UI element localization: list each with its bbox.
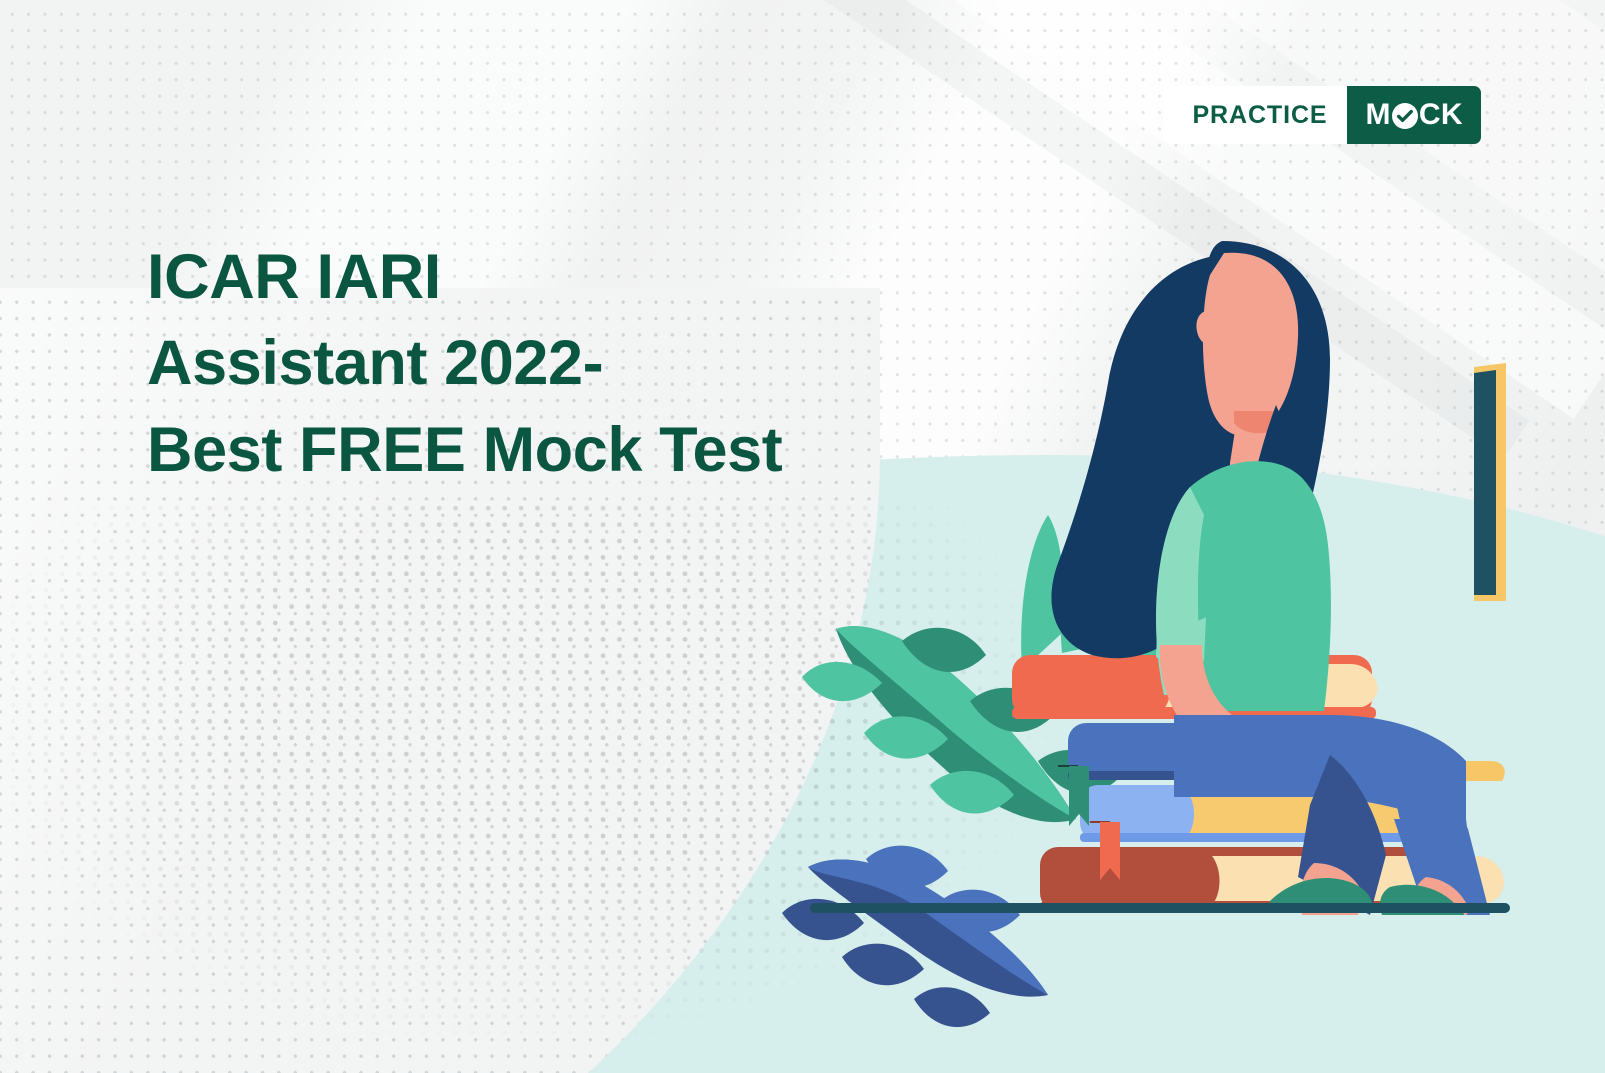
logo-practice-text: PRACTICE [1164,86,1347,144]
logo-mock-prefix: M [1365,98,1390,132]
logo-mock-suffix: CK [1419,98,1463,132]
banner: PRACTICE M CK ICAR IARI Assistant 2022- … [0,0,1605,1073]
logo-mock-badge: M CK [1347,86,1481,144]
page-title: ICAR IARI Assistant 2022- Best FREE Mock… [147,234,782,493]
check-icon [1392,103,1418,129]
practicemock-logo[interactable]: PRACTICE M CK [1164,86,1481,144]
woman-studying-on-books-illustration [790,215,1530,915]
ground-line [810,903,1510,913]
